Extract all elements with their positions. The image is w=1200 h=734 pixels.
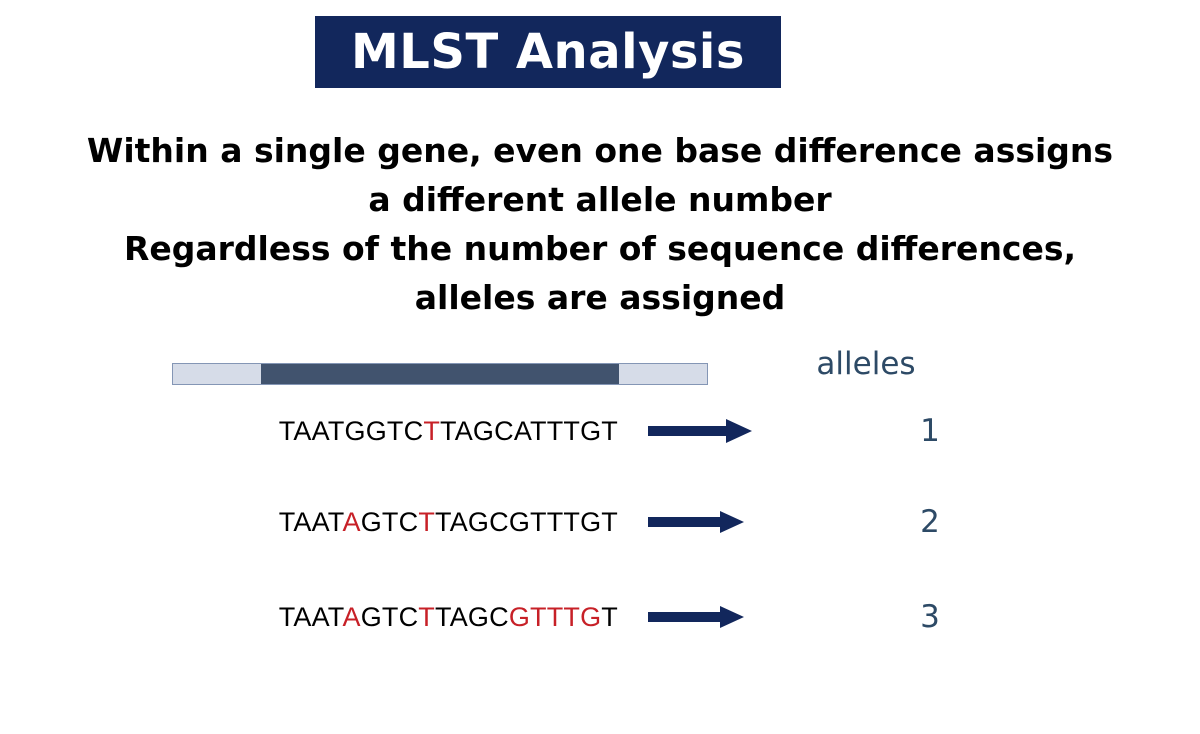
allele-number: 1 (860, 413, 1000, 449)
dna-sequence: TAATAGTCTTAGCGTTTGT (279, 507, 618, 537)
subtitle-line-3: Regardless of the number of sequence dif… (0, 224, 1200, 273)
subtitle-block: Within a single gene, even one base diff… (0, 126, 1200, 322)
right-arrow-icon (648, 418, 752, 444)
arrow-cell (640, 418, 860, 444)
sequence-base-run: TAGCATTTGT (440, 416, 618, 446)
sequence-base-run: T (601, 602, 618, 632)
sequence-text-wrapper: TAATAGTCTTAGCGTTTGT (0, 507, 640, 538)
arrow-cell (640, 605, 860, 629)
dna-sequence: TAATGGTCTTAGCATTTGT (279, 416, 618, 446)
sequence-base-run: TAGCGTTTGT (435, 507, 618, 537)
right-arrow-icon (648, 605, 744, 629)
arrow-cell (640, 510, 860, 534)
gene-bar-diagram (172, 363, 708, 385)
sequence-row: TAATAGTCTTAGCGTTTGT 2 (0, 499, 1200, 545)
sequence-row: TAATGGTCTTAGCATTTGT 1 (0, 408, 1200, 454)
sequence-base-run: GTC (361, 602, 419, 632)
mutated-base: A (343, 507, 361, 537)
subtitle-line-4: alleles are assigned (0, 273, 1200, 322)
gene-bar-right-flank (619, 364, 707, 384)
mutated-base: T (423, 416, 440, 446)
sequence-base-run: TAAT (279, 602, 343, 632)
allele-number: 2 (860, 504, 1000, 540)
sequence-text-wrapper: TAATGGTCTTAGCATTTGT (0, 416, 640, 447)
allele-number: 3 (860, 599, 1000, 635)
sequence-base-run: GTC (361, 507, 419, 537)
sequence-row: TAATAGTCTTAGCGTTTGT 3 (0, 594, 1200, 640)
subtitle-line-1: Within a single gene, even one base diff… (0, 126, 1200, 175)
page-title: MLST Analysis (351, 28, 745, 76)
mutated-base: T (418, 602, 435, 632)
sequence-base-run: TAATGGTC (279, 416, 424, 446)
mutated-base: T (418, 507, 435, 537)
gene-bar-left-flank (173, 364, 261, 384)
right-arrow-icon (648, 510, 744, 534)
alleles-column-header: alleles (796, 345, 936, 383)
gene-bar-core-region (261, 364, 619, 384)
mutated-base: GTTTG (509, 602, 601, 632)
sequence-text-wrapper: TAATAGTCTTAGCGTTTGT (0, 602, 640, 633)
mutated-base: A (342, 602, 360, 632)
dna-sequence: TAATAGTCTTAGCGTTTGT (279, 602, 618, 632)
subtitle-line-2: a different allele number (0, 175, 1200, 224)
sequence-base-run: TAAT (279, 507, 343, 537)
title-banner: MLST Analysis (315, 16, 781, 88)
sequence-base-run: TAGC (435, 602, 509, 632)
